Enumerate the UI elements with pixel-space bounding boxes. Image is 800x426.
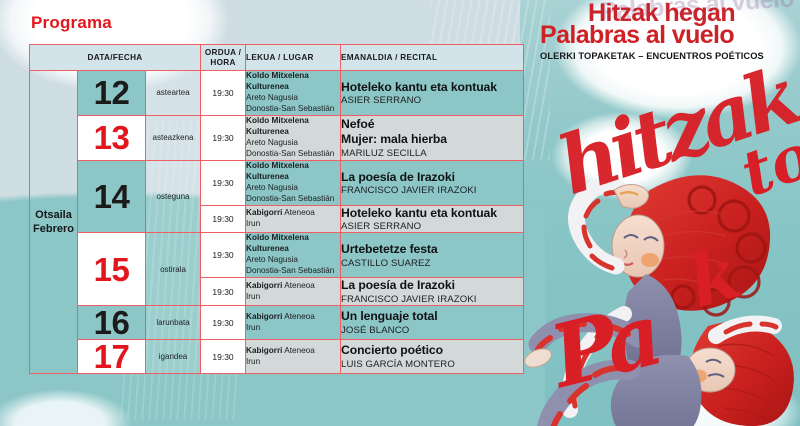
recital-title: Urtebetetze festa <box>341 242 523 257</box>
venue-name-line2: Kulturenea <box>246 172 340 183</box>
day-number: 14 <box>78 160 146 233</box>
event-venue: Kabigorri AteneoaIrun <box>246 278 341 306</box>
recital-author: CASTILLO SUAREZ <box>341 258 523 269</box>
recital-title: Un lenguaje total <box>341 309 523 324</box>
recital-author: LUIS GARCÍA MONTERO <box>341 359 523 370</box>
poster-title-block: Hitzak hegan Palabras al vuelo OLERKI TO… <box>536 2 800 61</box>
recital-author: MARILUZ SECILLA <box>341 148 523 159</box>
weekday-label: igandea <box>146 340 201 374</box>
venue-city: Donostia-San Sebastián <box>246 194 340 205</box>
recital-title-line2: Mujer: mala hierba <box>341 132 523 147</box>
month-label-eu: Otsaila <box>30 208 77 222</box>
venue-hall: Areto Nagusia <box>246 255 340 266</box>
venue-name: Koldo Mitxelena <box>246 233 340 244</box>
month-label: OtsailaFebrero <box>30 71 78 374</box>
day-number: 12 <box>78 71 146 116</box>
venue-name-bold: Kabigorri <box>246 312 282 321</box>
event-venue: Koldo MitxelenaKultureneaAreto NagusiaDo… <box>246 233 341 278</box>
venue-name: Koldo Mitxelena <box>246 161 340 172</box>
event-time: 19:30 <box>201 233 246 278</box>
day-number: 17 <box>78 340 146 374</box>
venue-city: Irun <box>246 357 340 368</box>
recital-title: Concierto poético <box>341 343 523 358</box>
month-label-es: Febrero <box>30 222 77 236</box>
poster-title-line2: Palabras al vuelo <box>536 24 800 48</box>
venue-name-bold: Kabigorri <box>246 208 282 217</box>
weekday-label: asteazkena <box>146 115 201 160</box>
venue-city: Irun <box>246 292 340 303</box>
recital-title: La poesía de Irazoki <box>341 278 523 293</box>
table-row: 15ostirala19:30Koldo MitxelenaKulturenea… <box>30 233 524 278</box>
venue-name: Koldo Mitxelena <box>246 71 340 82</box>
table-row: OtsailaFebrero12asteartea19:30Koldo Mitx… <box>30 71 524 116</box>
table-row: 17igandea19:30Kabigorri AteneoaIrunConci… <box>30 340 524 374</box>
venue-city: Irun <box>246 323 340 334</box>
event-time: 19:30 <box>201 340 246 374</box>
event-recital: Concierto poéticoLUIS GARCÍA MONTERO <box>341 340 524 374</box>
event-time: 19:30 <box>201 306 246 340</box>
day-number: 16 <box>78 306 146 340</box>
event-time: 19:30 <box>201 160 246 205</box>
table-row: 13asteazkena19:30Koldo MitxelenaKulturen… <box>30 115 524 160</box>
event-recital: La poesía de IrazokiFRANCISCO JAVIER IRA… <box>341 160 524 205</box>
poster-subtitle: OLERKI TOPAKETAK – ENCUENTROS POÉTICOS <box>536 51 800 61</box>
column-header-time: ORDUA / HORA <box>201 45 246 71</box>
venue-hall: Areto Nagusia <box>246 138 340 149</box>
event-time: 19:30 <box>201 205 246 233</box>
page-title: Programa <box>31 13 112 33</box>
venue-city: Donostia-San Sebastián <box>246 149 340 160</box>
day-number: 13 <box>78 115 146 160</box>
event-recital: Hoteleko kantu eta kontuakASIER SERRANO <box>341 205 524 233</box>
venue-name-line2: Kulturenea <box>246 127 340 138</box>
event-recital: La poesía de IrazokiFRANCISCO JAVIER IRA… <box>341 278 524 306</box>
venue-name-line2: Kulturenea <box>246 244 340 255</box>
column-header-recital: EMANALDIA / RECITAL <box>341 45 524 71</box>
background-white-blob-bottomleft <box>0 380 150 426</box>
venue-name: Kabigorri Ateneoa <box>246 281 340 292</box>
venue-name-bold: Kabigorri <box>246 346 282 355</box>
recital-author: FRANCISCO JAVIER IRAZOKI <box>341 185 523 196</box>
event-venue: Kabigorri AteneoaIrun <box>246 306 341 340</box>
event-time: 19:30 <box>201 71 246 116</box>
venue-name: Kabigorri Ateneoa <box>246 346 340 357</box>
recital-title: Hoteleko kantu eta kontuak <box>341 206 523 221</box>
recital-author: ASIER SERRANO <box>341 95 523 106</box>
event-time: 19:30 <box>201 278 246 306</box>
event-venue: Kabigorri AteneoaIrun <box>246 205 341 233</box>
recital-author: FRANCISCO JAVIER IRAZOKI <box>341 294 523 305</box>
schedule-table: DATA/FECHA ORDUA / HORA LEKUA / LUGAR EM… <box>29 44 524 374</box>
column-header-time-line2: HORA <box>201 58 245 68</box>
recital-author: JOSÉ BLANCO <box>341 325 523 336</box>
weekday-label: larunbata <box>146 306 201 340</box>
event-recital: Hoteleko kantu eta kontuakASIER SERRANO <box>341 71 524 116</box>
venue-name-bold: Kabigorri <box>246 281 282 290</box>
event-venue: Koldo MitxelenaKultureneaAreto NagusiaDo… <box>246 115 341 160</box>
weekday-label: osteguna <box>146 160 201 233</box>
column-header-date: DATA/FECHA <box>30 45 201 71</box>
recital-title: La poesía de Irazoki <box>341 170 523 185</box>
event-recital: Un lenguaje totalJOSÉ BLANCO <box>341 306 524 340</box>
schedule-table-body: OtsailaFebrero12asteartea19:30Koldo Mitx… <box>30 71 524 374</box>
venue-name: Kabigorri Ateneoa <box>246 208 340 219</box>
table-row: 16larunbata19:30Kabigorri AteneoaIrunUn … <box>30 306 524 340</box>
event-venue: Kabigorri AteneoaIrun <box>246 340 341 374</box>
table-header-row: DATA/FECHA ORDUA / HORA LEKUA / LUGAR EM… <box>30 45 524 71</box>
weekday-label: asteartea <box>146 71 201 116</box>
day-number: 15 <box>78 233 146 306</box>
weekday-label: ostirala <box>146 233 201 306</box>
event-time: 19:30 <box>201 115 246 160</box>
event-venue: Koldo MitxelenaKultureneaAreto NagusiaDo… <box>246 160 341 205</box>
venue-name-line2: Kulturenea <box>246 82 340 93</box>
venue-hall: Areto Nagusia <box>246 93 340 104</box>
event-recital: Urtebetetze festaCASTILLO SUAREZ <box>341 233 524 278</box>
column-header-venue: LEKUA / LUGAR <box>246 45 341 71</box>
table-row: 14osteguna19:30Koldo MitxelenaKulturenea… <box>30 160 524 205</box>
event-venue: Koldo MitxelenaKultureneaAreto NagusiaDo… <box>246 71 341 116</box>
venue-city: Donostia-San Sebastián <box>246 104 340 115</box>
recital-title: Nefoé <box>341 117 523 132</box>
venue-city: Irun <box>246 219 340 230</box>
venue-hall: Areto Nagusia <box>246 183 340 194</box>
venue-name: Koldo Mitxelena <box>246 116 340 127</box>
event-recital: NefoéMujer: mala hierbaMARILUZ SECILLA <box>341 115 524 160</box>
venue-city: Donostia-San Sebastián <box>246 266 340 277</box>
recital-title: Hoteleko kantu eta kontuak <box>341 80 523 95</box>
venue-name: Kabigorri Ateneoa <box>246 312 340 323</box>
recital-author: ASIER SERRANO <box>341 221 523 232</box>
column-header-time-line1: ORDUA / <box>201 48 245 58</box>
